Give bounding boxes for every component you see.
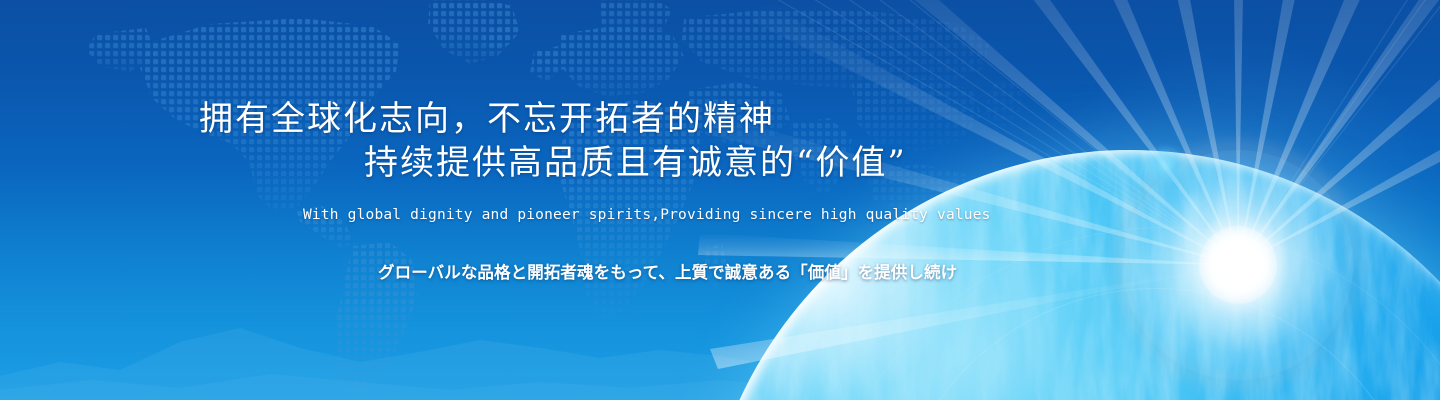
headline-chinese-line-1: 拥有全球化志向，不忘开拓者的精神: [199, 91, 775, 140]
lens-flare-dot: [1145, 145, 1185, 185]
subheadline-japanese: グローバルな品格と開拓者魂をもって、上質で誠意ある「価値」を提供し続け: [378, 259, 957, 283]
subheadline-english: With global dignity and pioneer spirits,…: [303, 207, 991, 223]
hero-banner: 拥有全球化志向，不忘开拓者的精神 持续提供高品质且有诚意的“价值” With g…: [0, 0, 1440, 400]
flare-glow-core: [1199, 226, 1277, 304]
headline-chinese-line-2: 持续提供高品质且有诚意的“价值”: [364, 135, 907, 184]
banner-copy: 拥有全球化志向，不忘开拓者的精神 持续提供高品质且有诚意的“价值” With g…: [0, 0, 1010, 400]
